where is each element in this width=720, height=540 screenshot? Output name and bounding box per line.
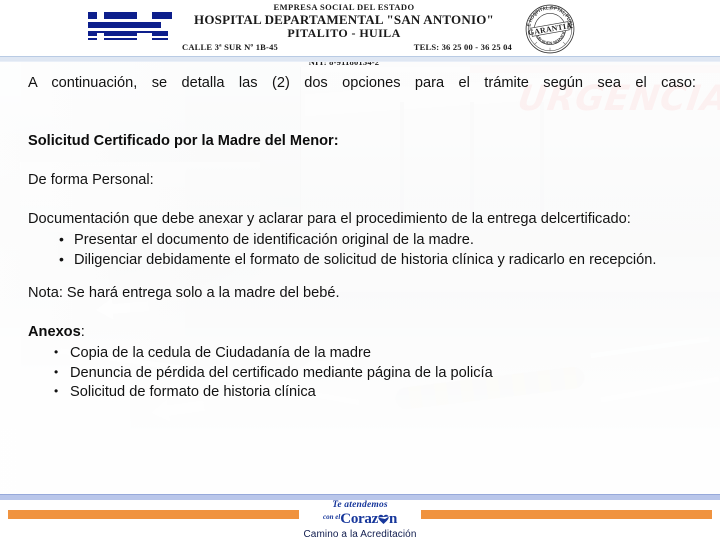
list-item: Presentar el documento de identificación… xyxy=(74,231,696,250)
slogan-line-1: Te atendemos xyxy=(0,500,720,510)
document-page: URGENCIAS xyxy=(0,0,720,540)
header-line-city: PITALITO - HUILA xyxy=(176,27,512,40)
header-contact-row: CALLE 3ª SUR Nº 1B-45 TELS: 36 25 00 - 3… xyxy=(176,42,512,54)
header-address: CALLE 3ª SUR Nº 1B-45 xyxy=(182,42,278,52)
footer-slogan-logo: Te atendemos con elCorazn Camino a la Ac… xyxy=(0,500,720,540)
document-body: A continuación, se detalla las (2) dos o… xyxy=(0,56,720,402)
footer-tagline: Camino a la Acreditación xyxy=(0,529,720,540)
header-divider xyxy=(0,56,720,62)
anexos-colon: : xyxy=(81,324,85,340)
ihf-hospital-logo-icon xyxy=(88,10,172,42)
spacer xyxy=(28,303,696,323)
list-item: Denuncia de pérdida del certificado medi… xyxy=(70,364,696,383)
intro-paragraph: A continuación, se detalla las (2) dos o… xyxy=(28,74,696,112)
note-paragraph: Nota: Se hará entrega solo a la madre de… xyxy=(28,284,696,303)
slogan-line-2: con elCorazn xyxy=(0,510,720,527)
anexos-heading: Anexos: xyxy=(28,323,696,342)
anexos-list: Copia de la cedula de Ciudadanía de la m… xyxy=(28,344,696,402)
header-line-hospital-name: HOSPITAL DEPARTAMENTAL "SAN ANTONIO" xyxy=(176,13,512,27)
list-item: Diligenciar debidamente el formato de so… xyxy=(74,251,696,270)
anexos-label: Anexos xyxy=(28,324,81,340)
list-item: Solicitud de formato de historia clínica xyxy=(70,383,696,402)
spacer xyxy=(28,190,696,210)
section-heading-solicitud: Solicitud Certificado por la Madre del M… xyxy=(28,132,696,151)
header-phones: TELS: 36 25 00 - 36 25 04 xyxy=(414,42,512,52)
subheading-forma-personal: De forma Personal: xyxy=(28,171,696,190)
slogan-n: n xyxy=(389,511,397,527)
letterhead-header: EMPRESA SOCIAL DEL ESTADO HOSPITAL DEPAR… xyxy=(0,0,720,56)
slogan-small-words: con el xyxy=(323,513,340,521)
requirements-list: Presentar el documento de identificación… xyxy=(28,231,696,269)
spacer xyxy=(28,112,696,132)
spacer xyxy=(28,151,696,171)
documentacion-paragraph: Documentación que debe anexar y aclarar … xyxy=(28,210,696,229)
page-footer: Te atendemos con elCorazn Camino a la Ac… xyxy=(0,494,720,540)
list-item: Copia de la cedula de Ciudadanía de la m… xyxy=(70,344,696,363)
spacer xyxy=(28,270,696,284)
slogan-coraz: Coraz xyxy=(340,511,378,527)
quality-seal-icon: E.S.E HOSPITAL DPTAL PUBLICO DE UN BUEN … xyxy=(524,3,576,55)
svg-text:GARANTIA: GARANTIA xyxy=(527,21,573,38)
